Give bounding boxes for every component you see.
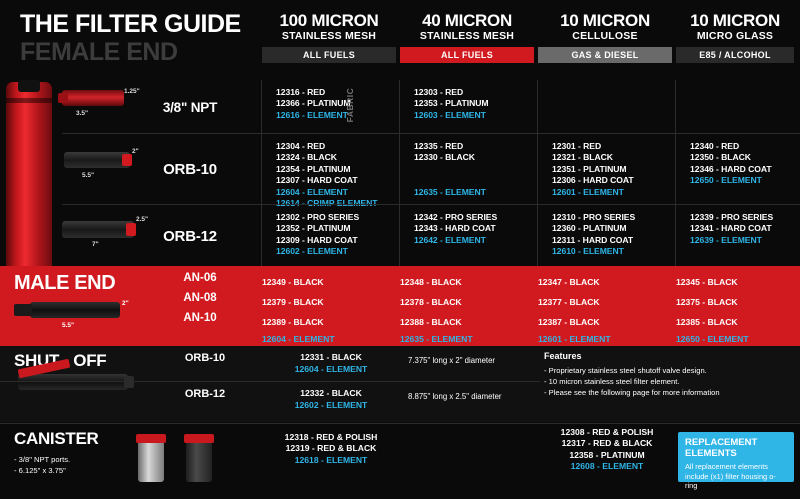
column-micron: 100 MICRON bbox=[262, 12, 396, 29]
filter-guide-sheet: THE FILTER GUIDE FEMALE END 100 MICRON S… bbox=[0, 0, 800, 499]
spec-shutoff-orb10: 7.375" long x 2" diameter bbox=[408, 356, 495, 365]
part-number: 12332 - BLACK bbox=[262, 387, 400, 399]
part-number-element: 12610 - ELEMENT bbox=[552, 246, 676, 257]
part-number: 12350 - BLACK bbox=[690, 152, 800, 163]
part-number: 12324 - BLACK bbox=[276, 152, 400, 163]
cell-orb12-10micron-glass: 12339 - PRO SERIES 12341 - HARD COAT 126… bbox=[676, 207, 800, 265]
cell-shutoff-orb10: 12331 - BLACK 12604 - ELEMENT bbox=[262, 351, 400, 375]
canister-cap-black bbox=[184, 434, 214, 443]
feature-item: - 10 micron stainless steel filter eleme… bbox=[544, 376, 794, 387]
column-micron: 10 MICRON bbox=[676, 12, 794, 29]
part-number: 12330 - BLACK bbox=[414, 152, 538, 163]
column-material: STAINLESS MESH bbox=[262, 30, 396, 43]
replacement-elements-badge: REPLACEMENT ELEMENTS All replacement ele… bbox=[678, 432, 794, 482]
part-number: 12358 - PLATINUM bbox=[538, 450, 676, 461]
section-title-male-end: MALE END bbox=[14, 272, 115, 295]
cell-orb10-10micron-glass: 12340 - RED 12350 - BLACK 12346 - HARD C… bbox=[676, 136, 800, 202]
part-number-element: 12603 - ELEMENT bbox=[414, 110, 538, 121]
replacement-subtitle: All replacement elements include (x1) fi… bbox=[685, 462, 787, 491]
fitting-end-orb10 bbox=[122, 154, 132, 166]
part-number: 12335 - RED bbox=[414, 141, 538, 152]
canister-note: - 3/8" NPT ports. bbox=[14, 454, 70, 465]
row-label-npt: 3/8" NPT bbox=[150, 82, 230, 132]
part-number: 12389 - BLACK bbox=[262, 312, 400, 332]
part-number: 12379 - BLACK bbox=[262, 292, 400, 312]
cell-male-10micron-glass: 12345 - BLACK 12375 - BLACK 12385 - BLAC… bbox=[676, 272, 800, 346]
header: THE FILTER GUIDE FEMALE END 100 MICRON S… bbox=[0, 0, 800, 78]
part-number: 12321 - BLACK bbox=[552, 152, 676, 163]
feature-item: - Please see the following page for more… bbox=[544, 387, 794, 398]
column-micron: 40 MICRON bbox=[400, 12, 534, 29]
part-number-element: 12618 - ELEMENT bbox=[262, 455, 400, 466]
cell-orb10-100micron: 12304 - RED 12324 - BLACK 12354 - PLATIN… bbox=[262, 136, 400, 202]
canister-note: - 6.125" x 3.75" bbox=[14, 465, 70, 476]
spec-shutoff-orb12: 8.875" long x 2.5" diameter bbox=[408, 392, 502, 401]
part-number-element: 12635 - ELEMENT bbox=[400, 332, 538, 346]
part-number: 12341 - HARD COAT bbox=[690, 223, 800, 234]
row-label-an06: AN-06 bbox=[150, 272, 250, 284]
canister-notes: - 3/8" NPT ports. - 6.125" x 3.75" bbox=[14, 454, 70, 476]
column-separator bbox=[261, 80, 262, 266]
part-number: 12317 - RED & BLACK bbox=[538, 438, 676, 449]
column-material: CELLULOSE bbox=[538, 30, 672, 43]
part-number: 12340 - RED bbox=[690, 141, 800, 152]
dimension-a-orb10: 2" bbox=[132, 148, 139, 155]
cell-male-10micron-cellulose: 12347 - BLACK 12377 - BLACK 12387 - BLAC… bbox=[538, 272, 676, 346]
part-number-element: 12635 - ELEMENT bbox=[414, 187, 538, 198]
shutoff-row-divider bbox=[0, 381, 540, 382]
part-number-element: 12608 - ELEMENT bbox=[538, 461, 676, 472]
part-number-element: 12604 - ELEMENT bbox=[276, 187, 400, 198]
table-row-orb10: 2" 5.5" ORB-10 12304 - RED 12324 - BLACK… bbox=[62, 136, 800, 202]
part-number: 12308 - RED & POLISH bbox=[538, 427, 676, 438]
cell-npt-100micron: 12316 - RED 12366 - PLATINUM 12616 - ELE… bbox=[262, 82, 400, 132]
column-material: STAINLESS MESH bbox=[400, 30, 534, 43]
dimension-a-npt: 1.25" bbox=[124, 88, 140, 95]
part-number: 12349 - BLACK bbox=[262, 272, 400, 292]
part-number: 12318 - RED & POLISH bbox=[262, 432, 400, 443]
cell-orb12-40micron: 12342 - PRO SERIES 12343 - HARD COAT 126… bbox=[400, 207, 538, 265]
section-canister: CANISTER - 3/8" NPT ports. - 6.125" x 3.… bbox=[0, 424, 800, 499]
part-number: 12339 - PRO SERIES bbox=[690, 212, 800, 223]
column-fuel-badge: ALL FUELS bbox=[262, 47, 396, 63]
section-title-female-end: FEMALE END bbox=[20, 38, 178, 67]
part-number: 12301 - RED bbox=[552, 141, 676, 152]
part-number: 12309 - HARD COAT bbox=[276, 235, 400, 246]
cell-orb12-100micron: 12302 - PRO SERIES 12352 - PLATINUM 1230… bbox=[262, 207, 400, 265]
part-number-element: 12642 - ELEMENT bbox=[414, 235, 538, 246]
part-number: 12311 - HARD COAT bbox=[552, 235, 676, 246]
fitting-photo-orb10 bbox=[64, 152, 130, 168]
part-number: 12388 - BLACK bbox=[400, 312, 538, 332]
part-number: 12375 - BLACK bbox=[676, 292, 800, 312]
column-micron: 10 MICRON bbox=[538, 12, 672, 29]
part-number-element: 12604 - ELEMENT bbox=[262, 363, 400, 375]
column-separator bbox=[537, 80, 538, 266]
column-separator bbox=[675, 80, 676, 266]
row-label-orb12: ORB-12 bbox=[150, 207, 230, 265]
part-number: 12319 - RED & BLACK bbox=[262, 443, 400, 454]
part-number-element: 12650 - ELEMENT bbox=[690, 175, 800, 186]
part-number: 12346 - HARD COAT bbox=[690, 164, 800, 175]
part-number: 12303 - RED bbox=[414, 87, 538, 98]
part-number: 12351 - PLATINUM bbox=[552, 164, 676, 175]
cell-orb10-10micron-cellulose: 12301 - RED 12321 - BLACK 12351 - PLATIN… bbox=[538, 136, 676, 202]
cell-orb12-10micron-cellulose: 12310 - PRO SERIES 12360 - PLATINUM 1231… bbox=[538, 207, 676, 265]
part-number: 12387 - BLACK bbox=[538, 312, 676, 332]
column-header-1: 40 MICRON STAINLESS MESH ALL FUELS bbox=[400, 12, 534, 63]
fitting-end-orb12 bbox=[126, 223, 136, 236]
section-male-end: MALE END 2" 5.5" AN-06 AN-08 AN-10 12349… bbox=[0, 266, 800, 346]
row-label-orb10: ORB-10 bbox=[150, 136, 230, 202]
part-number: 12310 - PRO SERIES bbox=[552, 212, 676, 223]
section-title-canister: CANISTER bbox=[14, 429, 99, 449]
row-label-shutoff-orb12: ORB-12 bbox=[160, 388, 250, 400]
part-number-element: 12602 - ELEMENT bbox=[262, 399, 400, 411]
column-header-0: 100 MICRON STAINLESS MESH ALL FUELS bbox=[262, 12, 396, 63]
part-number: 12348 - BLACK bbox=[400, 272, 538, 292]
column-fuel-badge: GAS & DIESEL bbox=[538, 47, 672, 63]
canister-cap-polish bbox=[136, 434, 166, 443]
fitting-photo-male bbox=[30, 302, 120, 318]
page-title: THE FILTER GUIDE bbox=[20, 10, 241, 39]
shutoff-end bbox=[124, 376, 134, 388]
part-number: 12347 - BLACK bbox=[538, 272, 676, 292]
part-number: 12304 - RED bbox=[276, 141, 400, 152]
replacement-title: REPLACEMENT ELEMENTS bbox=[685, 437, 787, 459]
row-label-shutoff-orb10: ORB-10 bbox=[160, 352, 250, 364]
part-number-element: 12650 - ELEMENT bbox=[676, 332, 800, 346]
part-number: 12352 - PLATINUM bbox=[276, 223, 400, 234]
row-label-an10: AN-10 bbox=[150, 312, 250, 324]
part-number: 12302 - PRO SERIES bbox=[276, 212, 400, 223]
dimension-b-male: 5.5" bbox=[62, 322, 74, 329]
feature-item: - Proprietary stainless steel shutoff va… bbox=[544, 365, 794, 376]
part-number-element: 12604 - ELEMENT bbox=[262, 332, 400, 346]
dimension-b-orb12: 7" bbox=[92, 241, 99, 248]
column-header-3: 10 MICRON MICRO GLASS E85 / ALCOHOL bbox=[676, 12, 794, 63]
cell-male-100micron: 12349 - BLACK 12379 - BLACK 12389 - BLAC… bbox=[262, 272, 400, 346]
fabric-label-wrap: FABRIC bbox=[338, 84, 352, 130]
fitting-photo-orb12 bbox=[62, 221, 134, 238]
cell-orb10-40micron: 12335 - RED 12330 - BLACK 12635 - ELEMEN… bbox=[400, 136, 538, 202]
column-fuel-badge: ALL FUELS bbox=[400, 47, 534, 63]
column-fuel-badge: E85 / ALCOHOL bbox=[676, 47, 794, 63]
part-number-element: 12602 - ELEMENT bbox=[276, 246, 400, 257]
features-title: Features bbox=[544, 351, 582, 361]
cell-shutoff-orb12: 12332 - BLACK 12602 - ELEMENT bbox=[262, 387, 400, 411]
table-row-orb12: 2.5" 7" ORB-12 12302 - PRO SERIES 12352 … bbox=[62, 207, 800, 265]
dimension-a-male: 2" bbox=[122, 300, 129, 307]
part-number: 12343 - HARD COAT bbox=[414, 223, 538, 234]
row-divider bbox=[62, 133, 800, 134]
canister-photo-polish bbox=[138, 440, 164, 482]
column-material: MICRO GLASS bbox=[676, 30, 794, 43]
part-number: 12353 - PLATINUM bbox=[414, 98, 538, 109]
column-separator bbox=[399, 80, 400, 266]
section-shutoff: SHUT - OFF ORB-10 ORB-12 12331 - BLACK 1… bbox=[0, 346, 800, 422]
part-number: 12331 - BLACK bbox=[262, 351, 400, 363]
bottle-cap bbox=[18, 80, 40, 92]
canister-photo-black bbox=[186, 440, 212, 482]
fitting-end-male bbox=[14, 304, 32, 316]
part-number-element: 12601 - ELEMENT bbox=[552, 187, 676, 198]
row-divider bbox=[62, 204, 800, 205]
part-number: 12306 - HARD COAT bbox=[552, 175, 676, 186]
part-number: 12377 - BLACK bbox=[538, 292, 676, 312]
column-header-2: 10 MICRON CELLULOSE GAS & DIESEL bbox=[538, 12, 672, 63]
part-number: 12378 - BLACK bbox=[400, 292, 538, 312]
part-number: 12360 - PLATINUM bbox=[552, 223, 676, 234]
dimension-b-orb10: 5.5" bbox=[82, 172, 94, 179]
cell-canister-100micron: 12318 - RED & POLISH 12319 - RED & BLACK… bbox=[262, 432, 400, 466]
part-number: 12307 - HARD COAT bbox=[276, 175, 400, 186]
part-number-element: 12601 - ELEMENT bbox=[538, 332, 676, 346]
table-row-npt: 1.25" 3.5" 3/8" NPT 12316 - RED 12366 - … bbox=[62, 82, 800, 132]
part-number: 12345 - BLACK bbox=[676, 272, 800, 292]
dimension-b-npt: 3.5" bbox=[76, 110, 88, 117]
dimension-a-orb12: 2.5" bbox=[136, 216, 148, 223]
part-number-element: 12639 - ELEMENT bbox=[690, 235, 800, 246]
shutoff-photo bbox=[18, 374, 128, 390]
part-number: 12385 - BLACK bbox=[676, 312, 800, 332]
fabric-label: FABRIC bbox=[345, 83, 355, 127]
features-block: Features - Proprietary stainless steel s… bbox=[544, 351, 794, 398]
part-number: 12354 - PLATINUM bbox=[276, 164, 400, 175]
fitting-end-npt bbox=[58, 93, 68, 103]
row-label-an08: AN-08 bbox=[150, 292, 250, 304]
part-number: 12342 - PRO SERIES bbox=[414, 212, 538, 223]
fitting-photo-npt bbox=[62, 90, 124, 106]
cell-canister-10micron-cellulose: 12308 - RED & POLISH 12317 - RED & BLACK… bbox=[538, 427, 676, 473]
cell-npt-40micron: 12303 - RED 12353 - PLATINUM 12603 - ELE… bbox=[400, 82, 538, 132]
cell-male-40micron: 12348 - BLACK 12378 - BLACK 12388 - BLAC… bbox=[400, 272, 538, 346]
